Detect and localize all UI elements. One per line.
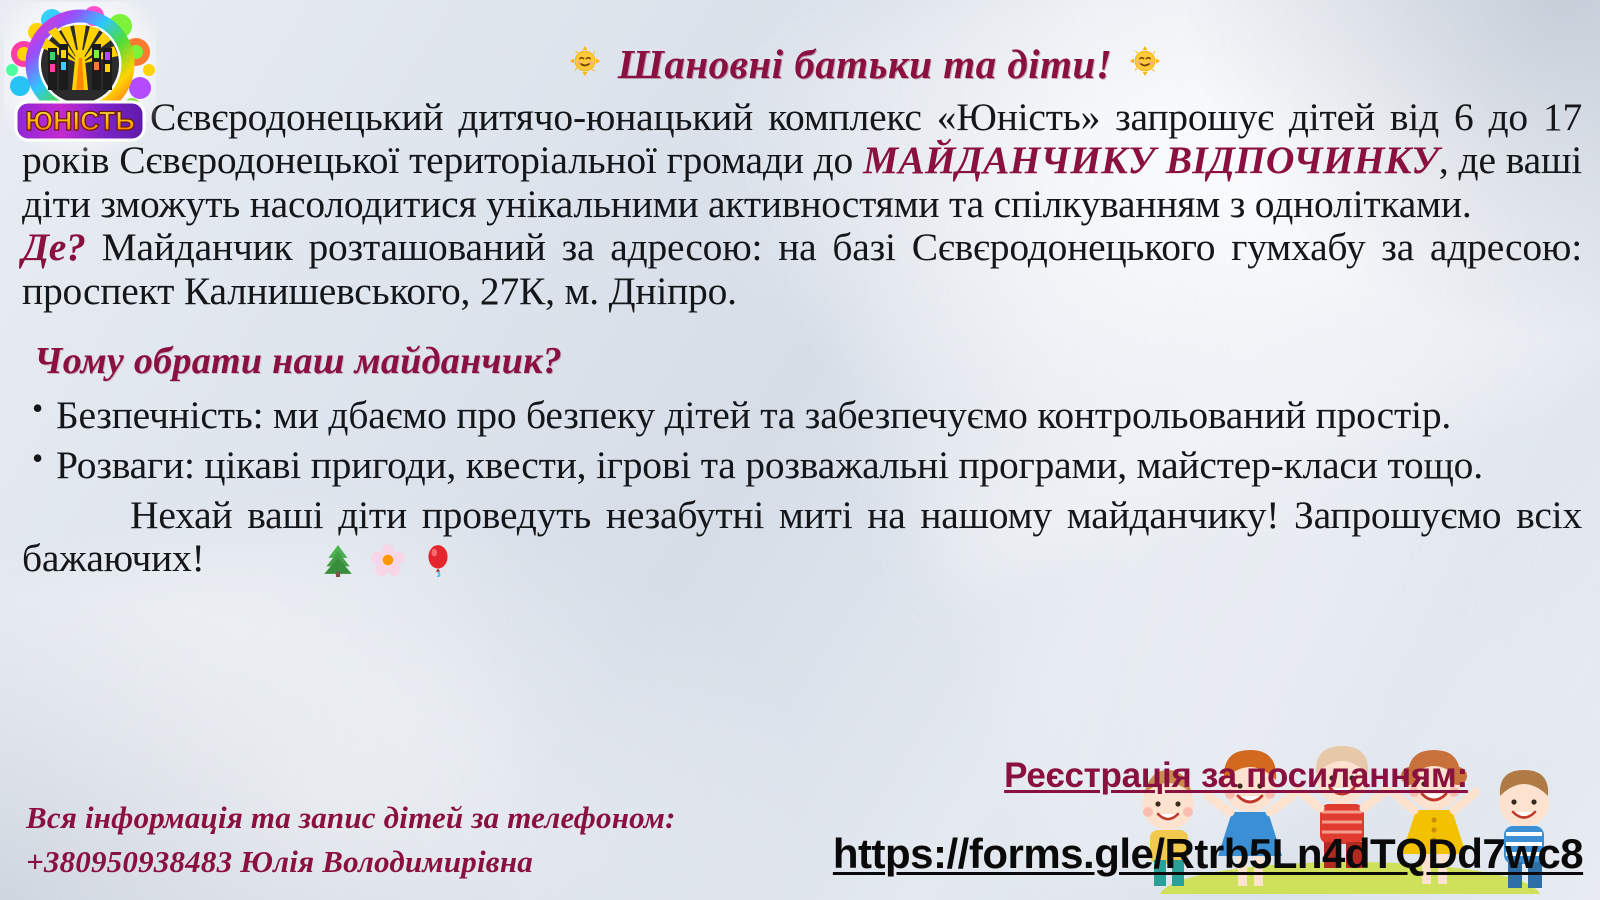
contact-phone-line: +380950938483 Юлія Володимирівна bbox=[26, 840, 676, 884]
contact-block: Вся інформація та запис дітей за телефон… bbox=[26, 796, 676, 884]
benefits-list: Безпечність: ми дбаємо про безпеку дітей… bbox=[22, 393, 1582, 487]
registration-link[interactable]: https://forms.gle/Rtrb5Ln4dTQDd7wc8 bbox=[833, 830, 1583, 877]
logo-wordmark: ЮНІСТЬ bbox=[25, 106, 135, 136]
intro-paragraph: Сєвєродонецький дитячо-юнацький комплекс… bbox=[22, 96, 1582, 226]
poster-title-row: Шановні батьки та діти! bbox=[0, 40, 1600, 88]
sun-with-face-icon bbox=[570, 46, 600, 76]
why-choose-heading: Чому обрати наш майданчик? bbox=[34, 339, 1582, 383]
poster-canvas: ЮНІСТЬ bbox=[0, 0, 1600, 900]
registration-label: Реєстрація за посиланням: bbox=[1004, 756, 1468, 795]
registration-url-block: https://forms.gle/Rtrb5Ln4dTQDd7wc8 bbox=[828, 830, 1588, 878]
poster-body: Сєвєродонецький дитячо-юнацький комплекс… bbox=[22, 96, 1582, 581]
playground-highlight: МАЙДАНЧИКУ ВІДПОЧИНКУ bbox=[863, 138, 1439, 182]
closing-text: Нехай ваші діти проведуть незабутні миті… bbox=[22, 493, 1582, 580]
list-item: Безпечність: ми дбаємо про безпеку дітей… bbox=[22, 393, 1582, 437]
closing-paragraph: Нехай ваші діти проведуть незабутні миті… bbox=[22, 494, 1582, 581]
sun-with-face-icon bbox=[1130, 46, 1160, 76]
page-title: Шановні батьки та діти! bbox=[618, 40, 1113, 88]
evergreen-tree-icon bbox=[213, 543, 247, 577]
where-paragraph: Де? Майданчик розташований за адресою: н… bbox=[22, 226, 1582, 313]
where-text: Майданчик розташований за адресою: на ба… bbox=[22, 225, 1582, 312]
registration-block: Реєстрація за посиланням: bbox=[886, 756, 1586, 796]
where-label: Де? bbox=[22, 225, 86, 269]
contact-info-line: Вся інформація та запис дітей за телефон… bbox=[26, 796, 676, 840]
balloon-icon bbox=[313, 543, 347, 577]
list-item: Розваги: цікаві пригоди, квести, ігрові … bbox=[22, 443, 1582, 487]
yunist-logo: ЮНІСТЬ bbox=[4, 2, 156, 152]
blossom-flower-icon bbox=[263, 543, 297, 577]
